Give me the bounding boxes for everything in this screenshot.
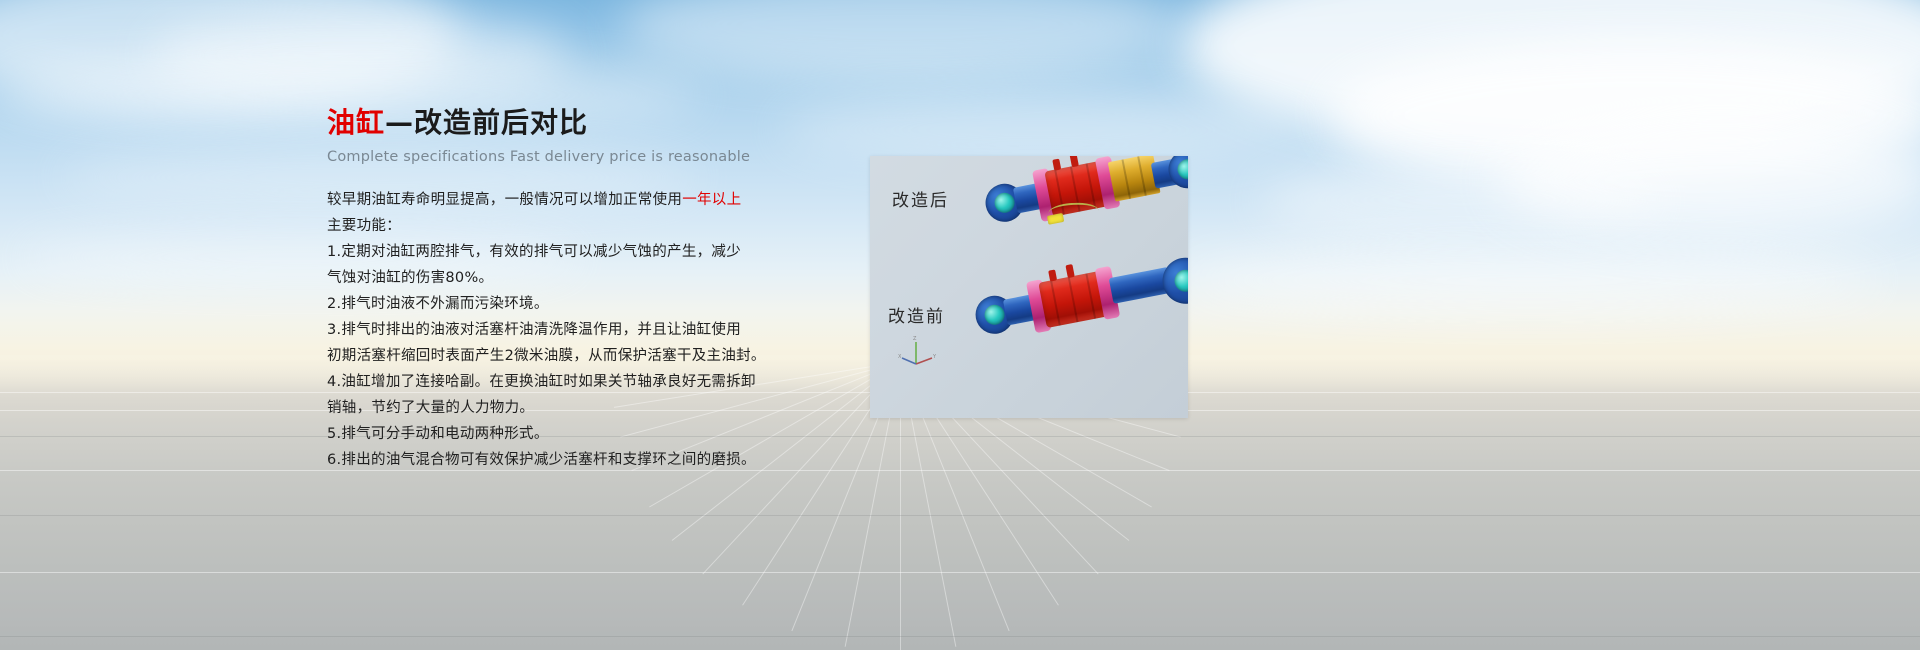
body-text: 销轴，节约了大量的人力物力。: [327, 400, 534, 416]
tile-band: [0, 515, 1920, 516]
body-text: 4.油缸增加了连接哈副。在更换油缸时如果关节轴承良好无需拆卸: [327, 374, 756, 390]
body-text: 5.排气可分手动和电动两种形式。: [327, 426, 549, 442]
vent-fitting: [1048, 269, 1057, 281]
body-text: 3.排气时排出的油液对活塞杆油清洗降温作用，并且让油缸使用: [327, 322, 741, 338]
body-line: 主要功能：: [327, 213, 747, 239]
body-text: 较早期油缸寿命明显提高，一般情况可以增加正常使用: [327, 192, 682, 208]
title-highlight: 油缸: [327, 106, 385, 139]
svg-text:Y: Y: [932, 354, 937, 360]
body-line: 2.排气时油液不外漏而污染环境。: [327, 291, 747, 317]
cloud-decoration: [1180, 250, 1880, 310]
cad-comparison-panel: 改造后 改造前: [870, 156, 1188, 418]
axis-triad-icon: Z Y X: [898, 334, 938, 368]
tile-band: [0, 470, 1920, 471]
body-line: 5.排气可分手动和电动两种形式。: [327, 421, 747, 447]
hero-banner: 油缸—改造前后对比 Complete specifications Fast d…: [0, 0, 1920, 650]
vent-fitting: [1070, 156, 1079, 167]
body-line: 6.排出的油气混合物可有效保护减少活塞杆和支撑环之间的磨损。: [327, 447, 747, 473]
page-subtitle: Complete specifications Fast delivery pr…: [327, 149, 747, 165]
body-text: 主要功能：: [327, 218, 401, 234]
body-text: 2.排气时油液不外漏而污染环境。: [327, 296, 549, 312]
text-column: 油缸—改造前后对比 Complete specifications Fast d…: [327, 105, 747, 473]
vent-fitting: [1065, 264, 1074, 278]
cylinder-eyelet-icon: [1165, 156, 1188, 192]
body-text: 初期活塞杆缩回时表面产生2微米油膜，从而保护活塞干及主油封。: [327, 348, 766, 364]
cloud-decoration: [1260, 160, 1660, 240]
feature-description: 较早期油缸寿命明显提高，一般情况可以增加正常使用一年以上 主要功能： 1.定期对…: [327, 187, 747, 473]
tile-band: [0, 572, 1920, 573]
body-line: 3.排气时排出的油液对活塞杆油清洗降温作用，并且让油缸使用: [327, 317, 747, 343]
title-rest: —改造前后对比: [385, 106, 588, 139]
cylinder-eyelet-icon: [1159, 254, 1188, 308]
vent-fitting: [1052, 159, 1061, 171]
body-text: 1.定期对油缸两腔排气，有效的排气可以减少气蚀的产生，减少: [327, 244, 741, 260]
body-line: 初期活塞杆缩回时表面产生2微米油膜，从而保护活塞干及主油封。: [327, 343, 747, 369]
cad-label-after: 改造后: [892, 186, 949, 211]
tile-band: [0, 636, 1920, 637]
body-line: 4.油缸增加了连接哈副。在更换油缸时如果关节轴承良好无需拆卸: [327, 369, 747, 395]
svg-text:Z: Z: [913, 336, 917, 342]
page-title: 油缸—改造前后对比: [327, 105, 747, 140]
body-text: 6.排出的油气混合物可有效保护减少活塞杆和支撑环之间的磨损。: [327, 452, 756, 468]
cad-label-before: 改造前: [888, 302, 945, 327]
body-line: 气蚀对油缸的伤害80%。: [327, 265, 747, 291]
body-text: 气蚀对油缸的伤害80%。: [327, 270, 493, 286]
svg-text:X: X: [898, 354, 902, 360]
cloud-decoration: [780, 95, 1300, 165]
body-line: 1.定期对油缸两腔排气，有效的排气可以减少气蚀的产生，减少: [327, 239, 747, 265]
body-line: 销轴，节约了大量的人力物力。: [327, 395, 747, 421]
body-highlight: 一年以上: [682, 192, 741, 208]
body-line: 较早期油缸寿命明显提高，一般情况可以增加正常使用一年以上: [327, 187, 747, 213]
tile-band: [0, 436, 1920, 437]
